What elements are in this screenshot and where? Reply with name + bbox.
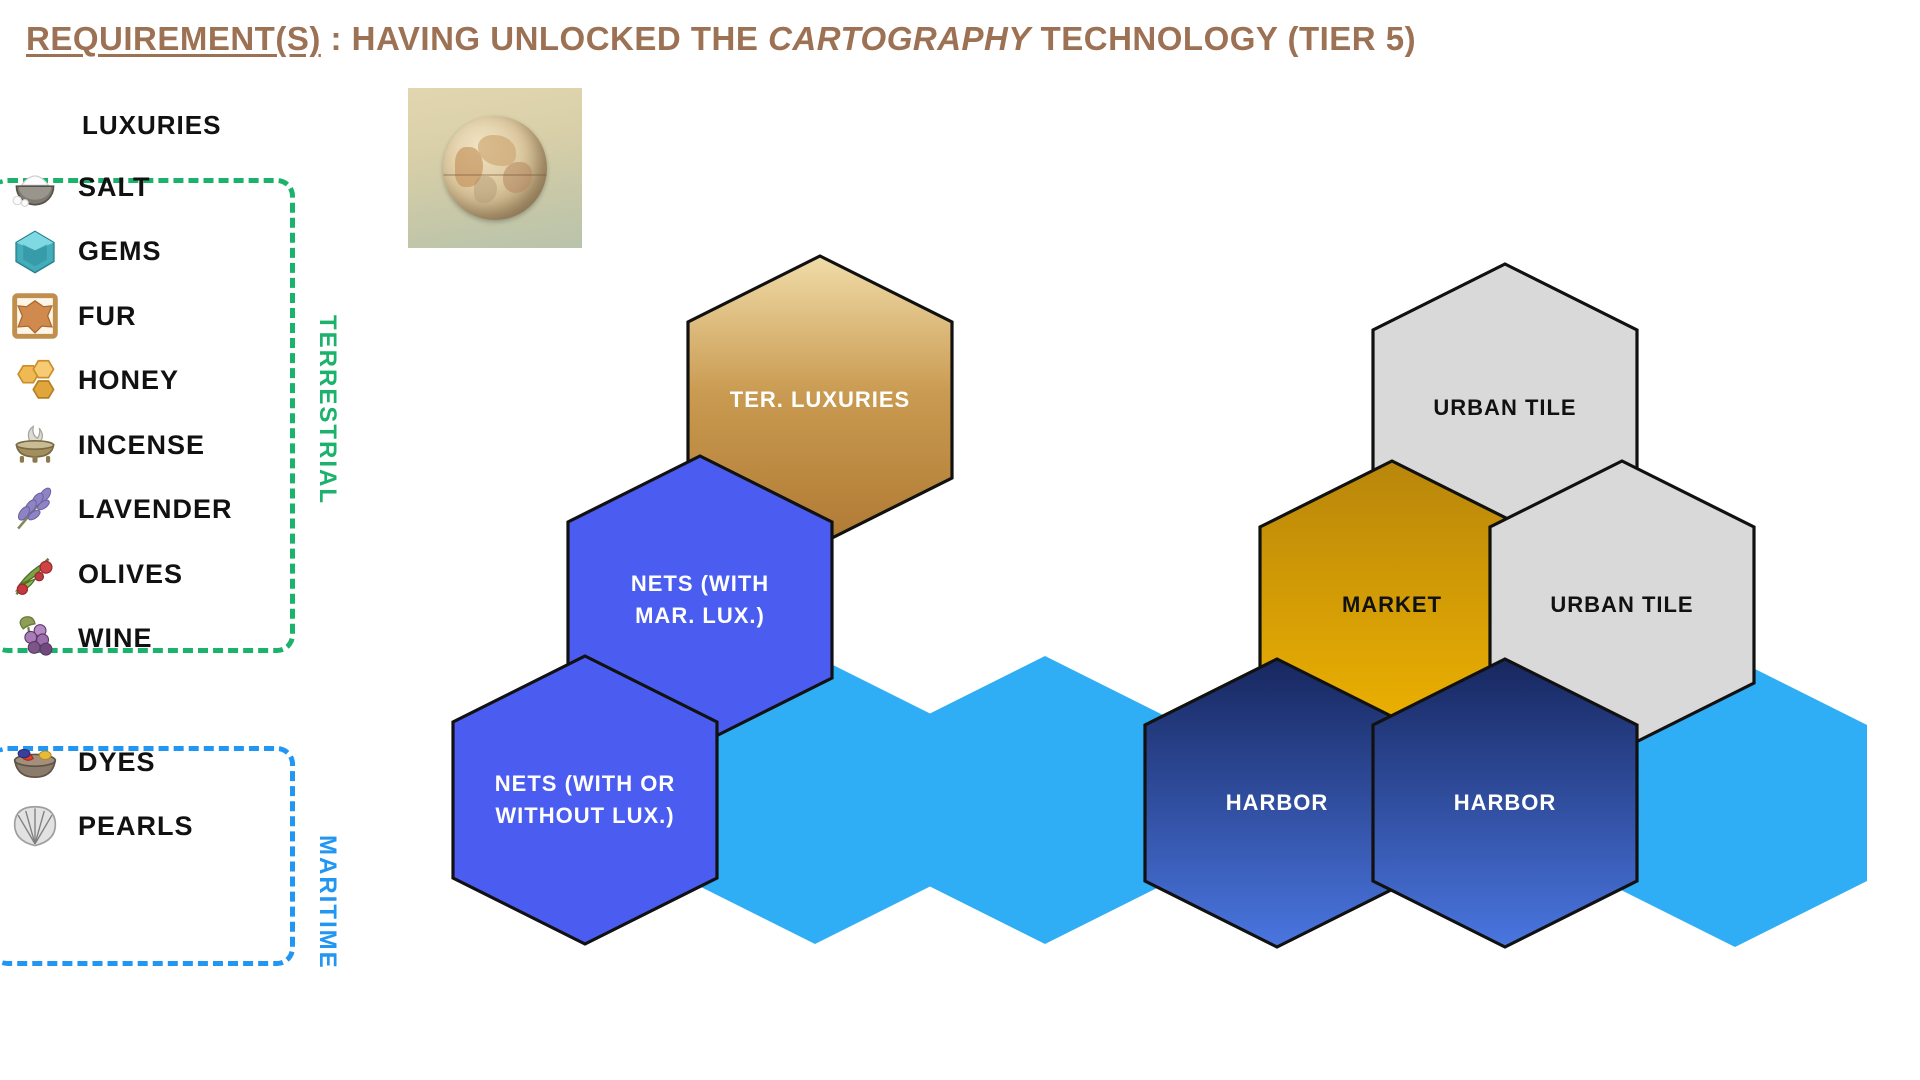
hex-tile-water-2[interactable] [910,653,1180,947]
hex-tile-harbor-2[interactable]: HARBOR [1370,656,1640,950]
hex-map: TER. LUXURIESNETS (WITHMAR. LUX.)NETS (W… [0,0,1920,1080]
hex-tile-nets-plain[interactable]: NETS (WITH ORWITHOUT LUX.) [450,653,720,947]
